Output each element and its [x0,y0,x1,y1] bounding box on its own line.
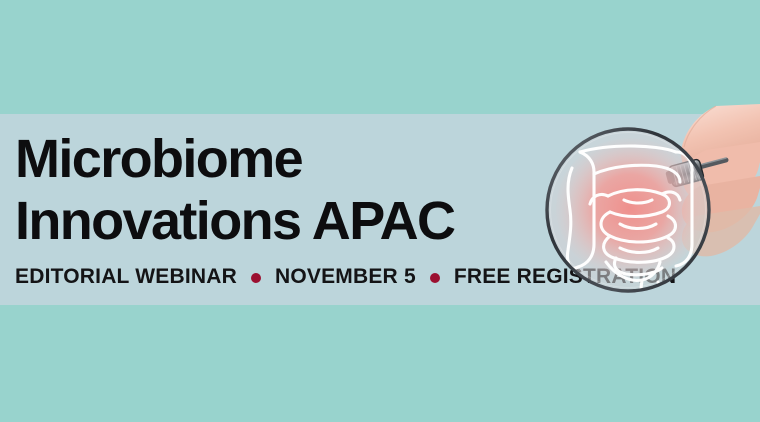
banner-title-line-1: Microbiome [15,128,575,190]
banner-title-line-2: Innovations APAC [15,190,575,252]
headline-text-block: Microbiome Innovations APAC EDITORIAL WE… [15,128,575,289]
webinar-promo-banner: Microbiome Innovations APAC EDITORIAL WE… [0,0,760,422]
subtitle-item-date: NOVEMBER 5 [275,265,416,289]
bullet-separator-icon [251,273,261,283]
bullet-separator-icon [430,273,440,283]
magnifying-glass-over-intestine-illustration [520,104,760,309]
subtitle-item-editorial-webinar: EDITORIAL WEBINAR [15,265,237,289]
banner-subtitle: EDITORIAL WEBINAR NOVEMBER 5 FREE REGIST… [15,265,575,289]
magnifier-lens [547,129,709,309]
